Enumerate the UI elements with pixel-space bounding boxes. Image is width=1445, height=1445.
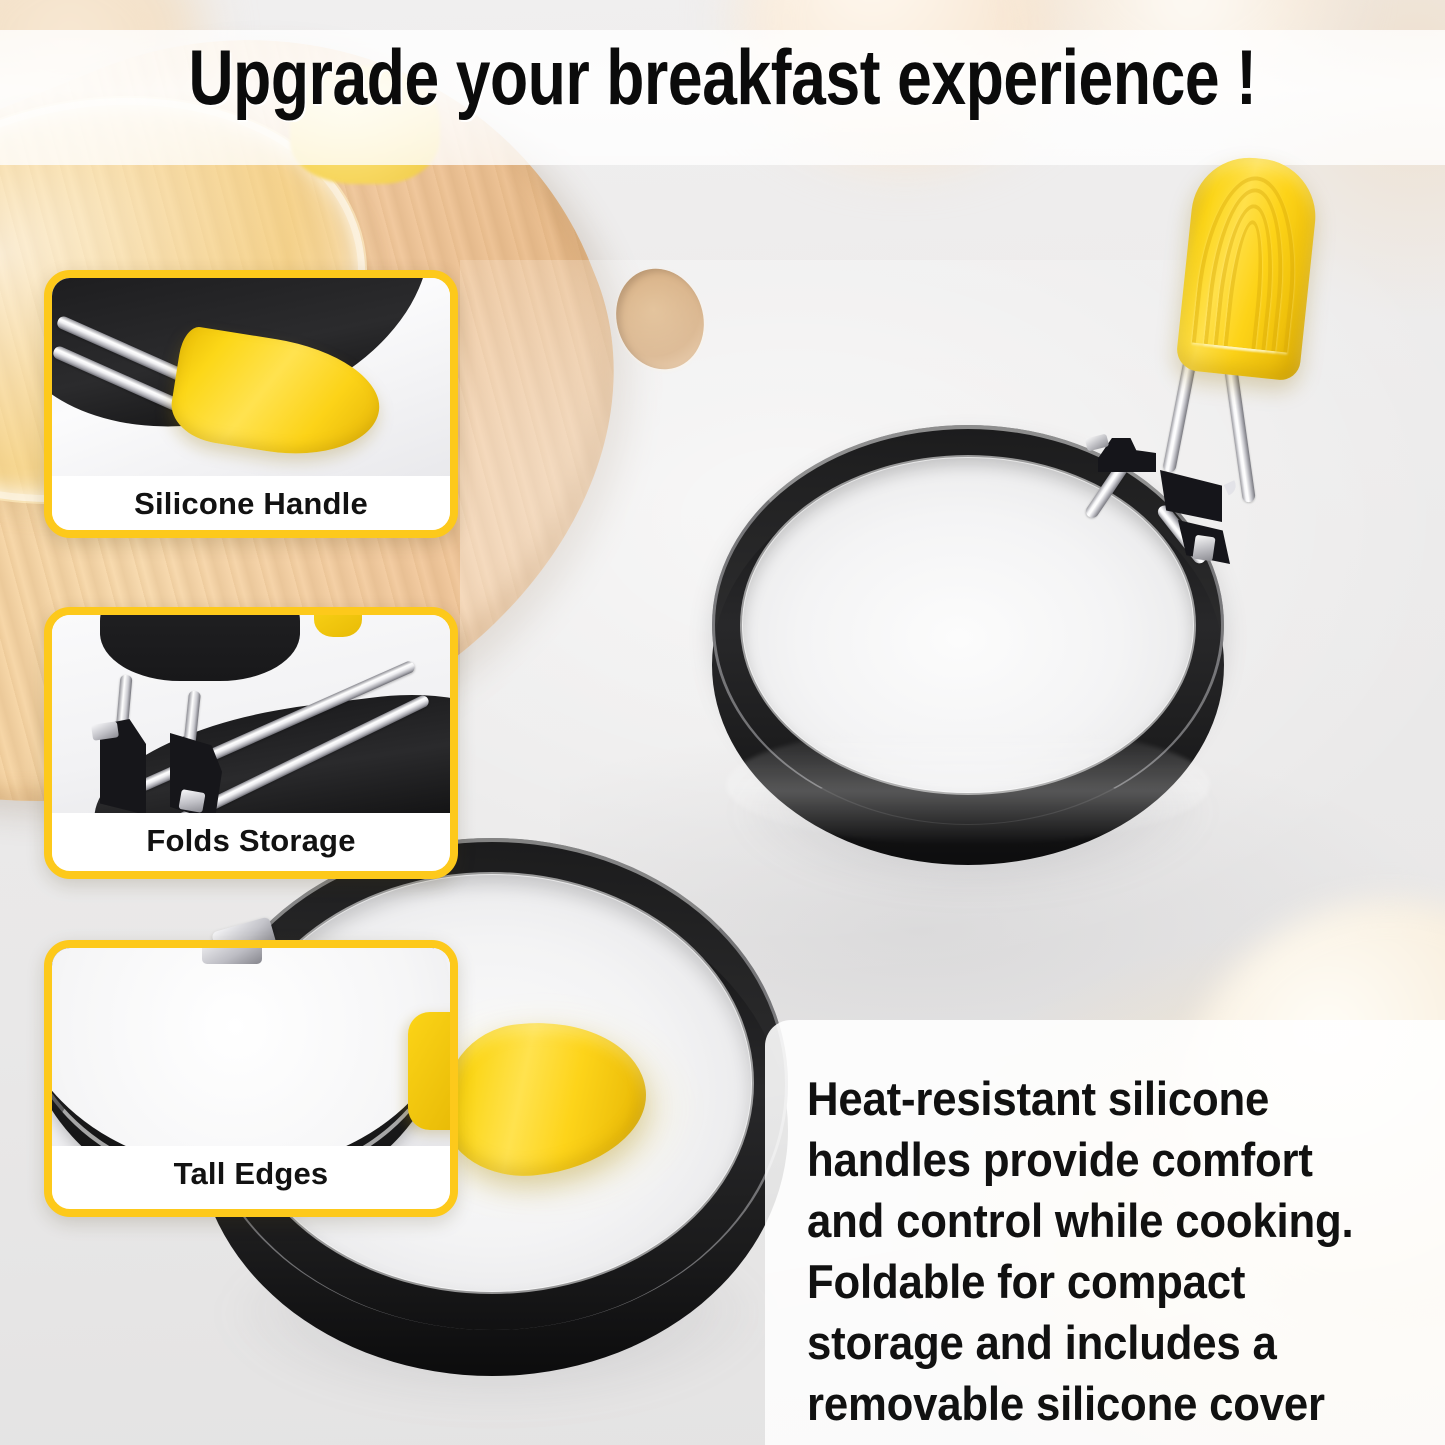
ring-rim-highlight [52,948,450,1146]
handle-rivet [202,948,262,964]
handle-rivet [1192,535,1215,562]
feature-card-silicone-handle: Silicone Handle [44,270,458,538]
description-panel: Heat-resistant silicone handles provide … [765,1020,1445,1445]
product-feature-image: Upgrade your breakfast experience ! Sili… [0,0,1445,1445]
yellow-silicone-grip-edge [408,1012,450,1130]
feature-card-label: Folds Storage [52,813,450,869]
feature-card-tall-edges: Tall Edges [44,940,458,1217]
feature-photo-silicone-handle [52,278,450,476]
feature-card-label: Tall Edges [52,1146,450,1202]
feature-card-folds-storage: Folds Storage [44,607,458,879]
handle-rivet [178,789,205,813]
feature-card-label: Silicone Handle [52,476,450,532]
page-headline: Upgrade your breakfast experience ! [145,38,1301,116]
egg-ring-upright [712,425,1224,895]
description-text: Heat-resistant silicone handles provide … [807,1068,1363,1445]
feature-photo-folds-storage [52,615,450,813]
feature-photo-tall-edges [52,948,450,1146]
ring-inner-rim-highlight [740,455,1196,795]
